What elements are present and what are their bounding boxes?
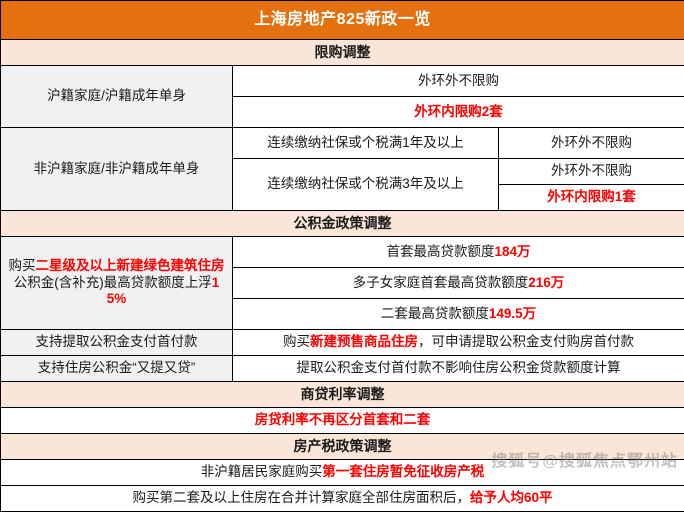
value-first-home-loan-limit: 首套最高贷款额度184万 bbox=[233, 237, 684, 268]
row-label-non-shanghai-household: 非沪籍家庭/非沪籍成年单身 bbox=[1, 128, 233, 211]
value-first-home-tax-exempt: 非沪籍居民家庭购买第一套住房暂免征收房产税 bbox=[1, 460, 684, 486]
section-row-housing-fund: 公积金政策调整 bbox=[1, 211, 684, 237]
withdraw-downpayment-part3: ，可申请提取公积金支付购房首付款 bbox=[418, 334, 634, 349]
first-home-loan-amount: 184万 bbox=[494, 244, 530, 259]
table-row: 沪籍家庭/沪籍成年单身 外环外不限购 bbox=[1, 66, 684, 97]
section-row-purchase-limit: 限购调整 bbox=[1, 40, 684, 66]
page-title: 上海房地产825新政一览 bbox=[1, 1, 684, 40]
withdraw-downpayment-highlight: 新建预售商品住房 bbox=[310, 334, 418, 349]
table-row: 非沪籍家庭/非沪籍成年单身 连续缴纳社保或个税满1年及以上 外环外不限购 bbox=[1, 128, 684, 159]
second-home-area-part1: 购买第二套及以上住房在合并计算家庭全部住房面积后， bbox=[132, 490, 470, 505]
value-withdraw-and-loan: 提取公积金支付首付款不影响住房公积金贷款额度计算 bbox=[233, 356, 684, 382]
row-label-shanghai-household: 沪籍家庭/沪籍成年单身 bbox=[1, 66, 233, 128]
first-home-tax-highlight: 第一套住房暂免征收房产税 bbox=[322, 464, 484, 479]
section-header-purchase-limit: 限购调整 bbox=[1, 40, 684, 66]
title-row: 上海房地产825新政一览 bbox=[1, 1, 684, 40]
section-row-commercial-rate: 商贷利率调整 bbox=[1, 382, 684, 408]
first-home-tax-part1: 非沪籍居民家庭购买 bbox=[201, 464, 323, 479]
green-label-part1: 购买 bbox=[9, 258, 36, 273]
policy-table: 上海房地产825新政一览 限购调整 沪籍家庭/沪籍成年单身 外环外不限购 外环内… bbox=[0, 0, 684, 512]
value-second-home-loan-limit: 二套最高贷款额度149.5万 bbox=[233, 299, 684, 330]
condition-1-year: 连续缴纳社保或个税满1年及以上 bbox=[233, 128, 499, 159]
row-label-withdraw-and-loan: 支持住房公积金“又提又贷” bbox=[1, 356, 233, 382]
result-3-year-outer-ring: 外环外不限购 bbox=[499, 159, 684, 185]
section-header-property-tax: 房产税政策调整 bbox=[1, 434, 684, 460]
table-row: 支持住房公积金“又提又贷” 提取公积金支付首付款不影响住房公积金贷款额度计算 bbox=[1, 356, 684, 382]
second-home-area-highlight: 给予人均60平 bbox=[470, 490, 553, 505]
table-row: 购买二星级及以上新建绿色建筑住房公积金(含补充)最高贷款额度上浮15% 首套最高… bbox=[1, 237, 684, 268]
second-home-loan-amount: 149.5万 bbox=[489, 306, 536, 321]
withdraw-downpayment-part1: 购买 bbox=[283, 334, 310, 349]
section-row-property-tax: 房产税政策调整 bbox=[1, 434, 684, 460]
result-3-year-inner-ring: 外环内限购1套 bbox=[499, 185, 684, 211]
table-row: 支持提取公积金支付首付款 购买新建预售商品住房，可申请提取公积金支付购房首付款 bbox=[1, 330, 684, 356]
row-label-withdraw-downpayment: 支持提取公积金支付首付款 bbox=[1, 330, 233, 356]
first-home-loan-text: 首套最高贷款额度 bbox=[386, 244, 494, 259]
second-home-loan-text: 二套最高贷款额度 bbox=[381, 306, 489, 321]
green-label-part3: 公积金(含补充)最高贷款额度上浮 bbox=[14, 275, 212, 290]
green-label-highlight: 二星级及以上新建绿色建筑住房 bbox=[36, 258, 225, 273]
value-multi-child-loan-limit: 多子女家庭首套最高贷款额度216万 bbox=[233, 268, 684, 299]
multi-child-loan-amount: 216万 bbox=[528, 275, 564, 290]
multi-child-loan-text: 多子女家庭首套最高贷款额度 bbox=[353, 275, 529, 290]
table-row: 非沪籍居民家庭购买第一套住房暂免征收房产税 bbox=[1, 460, 684, 486]
section-header-housing-fund: 公积金政策调整 bbox=[1, 211, 684, 237]
table-row: 房贷利率不再区分首套和二套 bbox=[1, 408, 684, 434]
value-withdraw-downpayment: 购买新建预售商品住房，可申请提取公积金支付购房首付款 bbox=[233, 330, 684, 356]
policy-table-sheet: 上海房地产825新政一览 限购调整 沪籍家庭/沪籍成年单身 外环外不限购 外环内… bbox=[0, 0, 684, 483]
condition-3-year: 连续缴纳社保或个税满3年及以上 bbox=[233, 159, 499, 211]
value-second-home-area-allowance: 购买第二套及以上住房在合并计算家庭全部住房面积后，给予人均60平 bbox=[1, 486, 684, 512]
table-row: 购买第二套及以上住房在合并计算家庭全部住房面积后，给予人均60平 bbox=[1, 486, 684, 512]
value-commercial-rate-policy: 房贷利率不再区分首套和二套 bbox=[1, 408, 684, 434]
row-label-green-building: 购买二星级及以上新建绿色建筑住房公积金(含补充)最高贷款额度上浮15% bbox=[1, 237, 233, 330]
section-header-commercial-rate: 商贷利率调整 bbox=[1, 382, 684, 408]
result-1-year-outer-ring: 外环外不限购 bbox=[499, 128, 684, 159]
value-shanghai-inner-ring: 外环内限购2套 bbox=[233, 97, 684, 128]
value-shanghai-outer-ring: 外环外不限购 bbox=[233, 66, 684, 97]
